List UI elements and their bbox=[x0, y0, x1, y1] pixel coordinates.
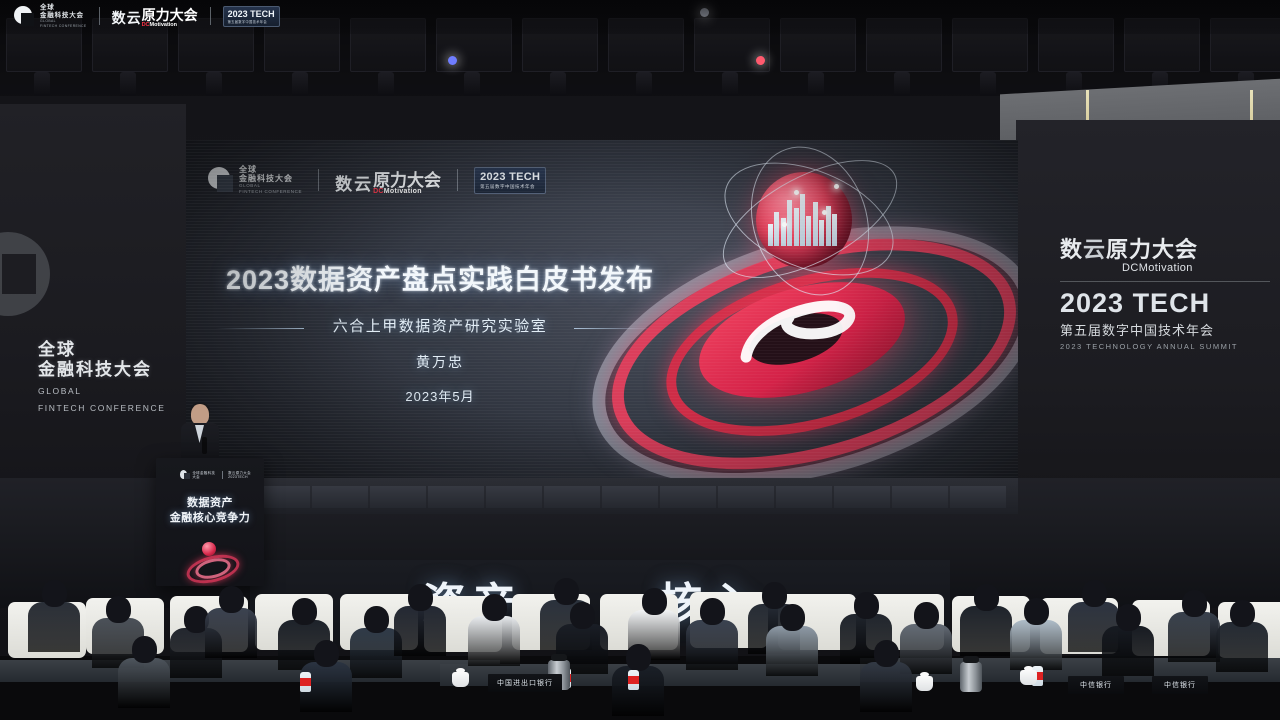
presentation-subtitle: 六合上甲数据资产研究实验室 bbox=[220, 315, 660, 336]
water-bottle bbox=[300, 672, 311, 692]
spiral-orbit-graphic bbox=[596, 166, 1016, 466]
apron-segment bbox=[834, 486, 890, 508]
nameplate-label: 中国进出口银行 bbox=[497, 678, 553, 688]
apron-segment bbox=[776, 486, 832, 508]
audience-member bbox=[686, 598, 738, 670]
screen-fintech-cn1: 全球 bbox=[239, 165, 302, 174]
screen-header-logos: 全球 金融科技大会 GLOBAL FINTECH CONFERENCE 数 云 … bbox=[208, 165, 546, 195]
screen-badge-sub: 第五届数字中国技术年会 bbox=[480, 184, 540, 190]
audience-torso bbox=[205, 608, 257, 658]
screen-fintech-en2: FINTECH CONFERENCE bbox=[239, 189, 302, 195]
audience-torso bbox=[960, 606, 1012, 656]
inner-red-ring bbox=[647, 238, 977, 467]
screen-title-block: 2023数据资产盘点实践白皮书发布 六合上甲数据资产研究实验室 黄万忠 2023… bbox=[220, 258, 660, 405]
audience-head bbox=[780, 604, 805, 631]
audience-torso bbox=[468, 616, 520, 666]
right-wall-yun: 云 bbox=[1083, 237, 1106, 262]
orbit-ring-a bbox=[708, 140, 910, 298]
stage-lamp bbox=[206, 72, 222, 98]
podium-logo-strip: 全球金融科技大会 数云原力大会 2023TECH bbox=[180, 470, 264, 479]
presenter bbox=[180, 404, 220, 466]
orbit-dot bbox=[794, 190, 799, 195]
overlay-fintech-cn2: 金融科技大会 bbox=[40, 12, 87, 20]
audience-member bbox=[394, 584, 446, 656]
audience-head bbox=[219, 586, 244, 613]
ceiling-spot-light bbox=[448, 56, 457, 65]
apron-segment bbox=[370, 486, 426, 508]
audience-head bbox=[482, 594, 507, 621]
stage-lamp bbox=[378, 72, 394, 98]
microphone-icon bbox=[202, 437, 207, 454]
audience-torso bbox=[394, 606, 446, 656]
apron-segment bbox=[602, 486, 658, 508]
table-nameplate: 中信银行 bbox=[1068, 676, 1124, 694]
screen-dcmotivation: DCMotivation bbox=[373, 188, 441, 195]
audience-member bbox=[1216, 600, 1268, 672]
stage-lamp bbox=[120, 72, 136, 98]
stage-lamp bbox=[980, 72, 996, 98]
audience-head bbox=[42, 580, 67, 607]
overlay-fintech-mark-icon bbox=[14, 5, 36, 27]
broadcast-overlay-bar: 全球 金融科技大会 GLOBAL FINTECH CONFERENCE 数 云 … bbox=[0, 0, 1280, 34]
overlay-badge-sub: 第五届数字中国技术年会 bbox=[228, 19, 275, 24]
presentation-title: 2023数据资产盘点实践白皮书发布 bbox=[220, 258, 660, 297]
overlay-tech-badge: 2023 TECH 第五届数字中国技术年会 bbox=[223, 6, 280, 27]
stage-lamp bbox=[808, 72, 824, 98]
right-wall-yuanli: 原力大会 bbox=[1106, 237, 1198, 262]
right-wall-branding: 数云原力大会 DCMotivation 2023 TECH 第五届数字中国技术年… bbox=[1060, 232, 1270, 351]
overlay-divider bbox=[210, 7, 211, 25]
audience-torso bbox=[1102, 626, 1154, 676]
logo-divider bbox=[457, 169, 458, 191]
stage-lamp bbox=[894, 72, 910, 98]
conference-stage-photo: 全球 金融科技大会 GLOBAL FINTECH CONFERENCE 数云原力… bbox=[0, 0, 1280, 720]
screen-fintech-en1: GLOBAL bbox=[239, 183, 302, 189]
orbit-ring-c bbox=[732, 140, 887, 311]
right-wall-tech: 2023 TECH bbox=[1060, 288, 1270, 319]
audience-head bbox=[132, 636, 157, 663]
audience-head bbox=[570, 602, 595, 629]
ceiling-spot-light bbox=[756, 56, 765, 65]
right-wall-cn-sub: 第五届数字中国技术年会 bbox=[1060, 320, 1270, 339]
overlay-divider bbox=[99, 7, 100, 25]
core-hole bbox=[744, 304, 849, 375]
apron-segment bbox=[718, 486, 774, 508]
stage-lamp bbox=[550, 72, 566, 98]
audience-member bbox=[1010, 598, 1062, 670]
thermos-flask bbox=[960, 662, 982, 692]
apron-segment bbox=[312, 486, 368, 508]
overlay-fintech-en2: FINTECH CONFERENCE bbox=[40, 24, 87, 29]
audience-member bbox=[960, 584, 1012, 656]
audience-head bbox=[314, 640, 339, 667]
stage-lamp bbox=[464, 72, 480, 98]
right-wall-en-sub: 2023 TECHNOLOGY ANNUAL SUMMIT bbox=[1060, 342, 1270, 351]
audience-member bbox=[28, 580, 80, 652]
podium-logo-cn: 全球金融科技大会 bbox=[192, 471, 217, 479]
overlay-shu: 数 bbox=[112, 8, 126, 28]
audience-head bbox=[554, 578, 579, 605]
audience-head bbox=[1024, 598, 1049, 625]
main-led-screen: 全球 金融科技大会 GLOBAL FINTECH CONFERENCE 数 云 … bbox=[186, 140, 1018, 480]
podium-logo-divider bbox=[222, 471, 223, 479]
screen-tech-badge: 2023 TECH 第五届数字中国技术年会 bbox=[474, 167, 546, 194]
stage-lamp bbox=[34, 72, 50, 98]
audience-head bbox=[874, 640, 899, 667]
audience-member bbox=[468, 594, 520, 666]
apron-segment bbox=[544, 486, 600, 508]
left-wall-cn-line2: 金融科技大会 bbox=[38, 360, 184, 380]
screen-vignette bbox=[186, 140, 1018, 480]
table-nameplate: 中国进出口银行 bbox=[488, 674, 562, 692]
nameplate-label: 中信银行 bbox=[1080, 680, 1112, 690]
screen-shu: 数 bbox=[335, 170, 352, 195]
orbit-dot bbox=[834, 184, 839, 189]
audience-torso bbox=[766, 626, 818, 676]
audience-head bbox=[1082, 580, 1107, 607]
orbit-ring-b bbox=[705, 140, 915, 302]
audience-table bbox=[0, 660, 500, 682]
left-wall-branding: 全球 金融科技大会 GLOBAL FINTECH CONFERENCE bbox=[38, 340, 184, 414]
podium-title-line2: 金融核心竞争力 bbox=[156, 511, 264, 526]
audience-head bbox=[700, 598, 725, 625]
left-wall-en-line1: GLOBAL bbox=[38, 385, 184, 397]
tea-cup bbox=[452, 672, 469, 687]
podium-title-line1: 数据资产 bbox=[156, 496, 264, 511]
tea-cup bbox=[1020, 670, 1037, 685]
presentation-date: 2023年5月 bbox=[220, 386, 660, 405]
audience-torso bbox=[1010, 620, 1062, 670]
presenter-head bbox=[191, 404, 209, 425]
audience-head bbox=[854, 592, 879, 619]
audience-member bbox=[205, 586, 257, 658]
nameplate-label: 中信银行 bbox=[1164, 680, 1196, 690]
audience-torso bbox=[686, 620, 738, 670]
overlay-fintech-cn1: 全球 bbox=[40, 4, 87, 12]
left-wall-cn-line1: 全球 bbox=[38, 340, 184, 360]
podium-fintech-mark-icon bbox=[180, 470, 187, 479]
audience-torso bbox=[118, 658, 170, 708]
pink-ring bbox=[585, 197, 1018, 480]
city-skyline-in-sphere bbox=[768, 188, 838, 246]
audience-torso bbox=[1168, 612, 1220, 662]
right-wall-shu: 数 bbox=[1060, 237, 1083, 262]
apron-segment bbox=[486, 486, 542, 508]
audience-torso bbox=[28, 602, 80, 652]
outer-silver-ring bbox=[562, 180, 1018, 480]
orbit-dot bbox=[782, 222, 787, 227]
stage-lamp bbox=[636, 72, 652, 98]
audience-head bbox=[974, 584, 999, 611]
audience-member bbox=[118, 636, 170, 708]
audience-head bbox=[642, 588, 667, 615]
screen-fintech-cn2: 金融科技大会 bbox=[239, 174, 302, 183]
screen-badge-year: 2023 TECH bbox=[480, 171, 540, 183]
audience-member bbox=[1168, 590, 1220, 662]
logo-divider bbox=[318, 169, 319, 191]
fintech-logo-square bbox=[2, 254, 36, 294]
podium-title-block: 数据资产 金融核心竞争力 bbox=[156, 496, 264, 526]
water-bottle bbox=[628, 670, 639, 690]
audience-head bbox=[292, 598, 317, 625]
swirl-glyph-icon bbox=[718, 273, 890, 381]
red-core-disc bbox=[686, 261, 918, 419]
audience-torso bbox=[860, 662, 912, 712]
stage-lamp bbox=[292, 72, 308, 98]
audience-head bbox=[914, 602, 939, 629]
audience-head bbox=[626, 644, 651, 671]
screen-yun: 云 bbox=[354, 170, 371, 195]
audience-member bbox=[766, 604, 818, 676]
podium-logo-cn2: 数云原力大会 2023TECH bbox=[228, 471, 264, 479]
screen-yuanli: 原力大会 bbox=[373, 166, 441, 191]
audience-head bbox=[1230, 600, 1255, 627]
overlay-badge-year: 2023 TECH bbox=[228, 9, 275, 19]
apron-segment bbox=[950, 486, 1006, 508]
audience-torso bbox=[1216, 622, 1268, 672]
audience-member bbox=[860, 640, 912, 712]
audience-head bbox=[106, 596, 131, 623]
left-wall-en-line2: FINTECH CONFERENCE bbox=[38, 402, 184, 414]
presenter-name: 黄万忠 bbox=[220, 352, 660, 372]
overlay-yun: 云 bbox=[127, 8, 141, 28]
fintech-mark-icon bbox=[208, 167, 234, 193]
tea-cup bbox=[916, 676, 933, 691]
orbit-dot bbox=[822, 210, 827, 215]
title-rule-right bbox=[574, 328, 662, 329]
table-nameplate: 中信银行 bbox=[1152, 676, 1208, 694]
overlay-dcmotivation: DCMotivation bbox=[142, 22, 198, 28]
audience-head bbox=[364, 606, 389, 633]
audience-head bbox=[1182, 590, 1207, 617]
audience-member bbox=[1102, 604, 1154, 676]
right-wall-divider bbox=[1060, 281, 1270, 282]
right-wall-title-row: 数云原力大会 bbox=[1060, 232, 1270, 264]
title-rule-left bbox=[216, 328, 304, 329]
apron-segment bbox=[428, 486, 484, 508]
audience-head bbox=[408, 584, 433, 611]
overlay-logo-group: 全球 金融科技大会 GLOBAL FINTECH CONFERENCE 数 云 … bbox=[14, 4, 280, 28]
stage-lamp bbox=[722, 72, 738, 98]
globe-sphere bbox=[756, 172, 852, 268]
apron-segment bbox=[660, 486, 716, 508]
apron-segment bbox=[892, 486, 948, 508]
audience-head bbox=[1116, 604, 1141, 631]
